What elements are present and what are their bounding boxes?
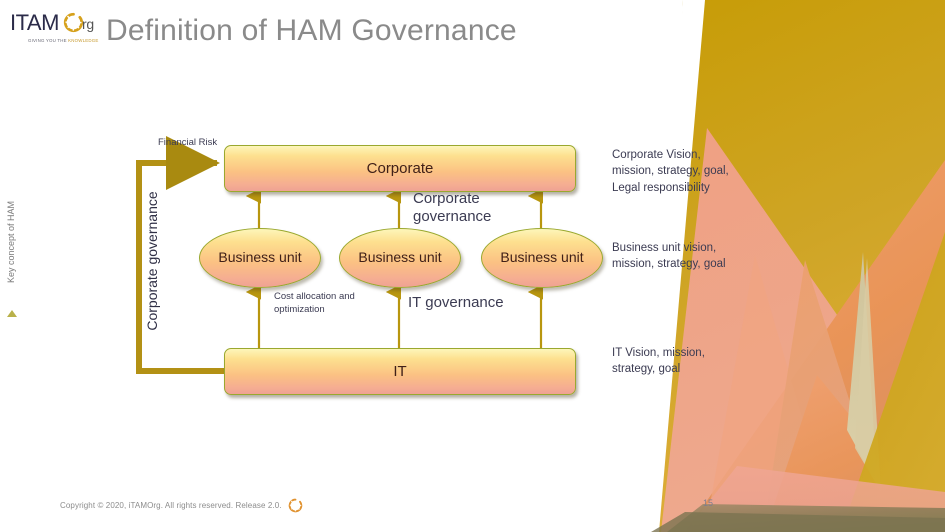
label-corporate-governance-vertical: Corporate governance: [144, 191, 160, 331]
node-business-unit-1-label: Business unit: [218, 250, 301, 266]
note-business-unit: Business unit vision, mission, strategy,…: [612, 240, 732, 273]
label-financial-risk: Financial Risk: [158, 137, 217, 148]
page-number: 15: [703, 498, 713, 508]
copyright-text: Copyright © 2020, iTAMOrg. All rights re…: [60, 501, 282, 510]
label-cost-allocation: Cost allocation and optimization: [274, 291, 384, 317]
node-corporate[interactable]: Corporate: [224, 145, 576, 192]
governance-diagram: Corporate IT Business unit Business unit…: [0, 0, 760, 470]
node-it[interactable]: IT: [224, 348, 576, 395]
slide-canvas: ITAM rg GIVING YOU THE KNOWLEDGE Definit…: [0, 0, 945, 532]
note-corporate: Corporate Vision, mission, strategy, goa…: [612, 147, 732, 196]
node-business-unit-3[interactable]: Business unit: [481, 228, 603, 288]
node-business-unit-1[interactable]: Business unit: [199, 228, 321, 288]
node-business-unit-2[interactable]: Business unit: [339, 228, 461, 288]
footer: Copyright © 2020, iTAMOrg. All rights re…: [60, 498, 303, 513]
label-corporate-governance: Corporate governance: [413, 190, 523, 227]
node-business-unit-2-label: Business unit: [358, 250, 441, 266]
gear-icon: [288, 498, 303, 513]
node-business-unit-3-label: Business unit: [500, 250, 583, 266]
note-it: IT Vision, mission, strategy, goal: [612, 345, 732, 378]
label-it-governance: IT governance: [408, 294, 518, 312]
label-corporate-governance-vertical-wrap: Corporate governance: [143, 187, 161, 337]
